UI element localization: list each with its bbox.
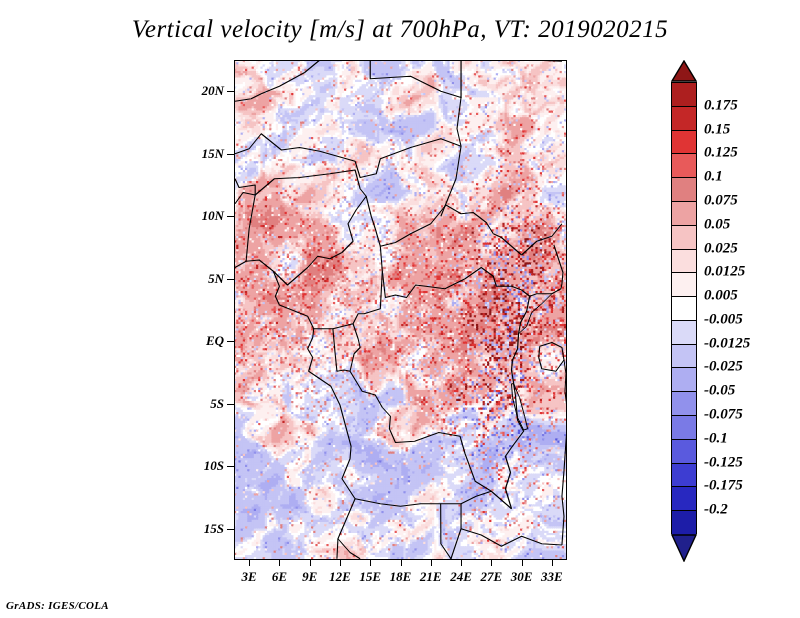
colorbar-band <box>672 368 696 392</box>
colorbar: 0.1750.150.1250.10.0750.050.0250.01250.0… <box>671 60 697 562</box>
colorbar-band <box>672 250 696 274</box>
latitude-tick-label: 15N <box>202 146 224 162</box>
colorbar-cap-top-icon <box>671 60 697 82</box>
colorbar-tick-label: 0.025 <box>704 240 738 257</box>
colorbar-band <box>672 107 696 131</box>
colorbar-tick-label: 0.175 <box>704 97 738 114</box>
longitude-tick <box>249 560 250 566</box>
colorbar-tick-label: -0.175 <box>704 478 743 495</box>
latitude-tick <box>227 154 234 155</box>
map-plot-area[interactable]: 20N15N10N5NEQ5S10S15S 3E6E9E12E15E18E21E… <box>234 60 567 560</box>
longitude-tick <box>491 560 492 566</box>
colorbar-tick-label: -0.05 <box>704 383 735 400</box>
longitude-tick <box>310 560 311 566</box>
colorbar-band <box>672 83 696 107</box>
longitude-tick <box>279 560 280 566</box>
colorbar-band <box>672 154 696 178</box>
longitude-tick-label: 12E <box>329 569 351 585</box>
longitude-tick <box>431 560 432 566</box>
longitude-tick-label: 9E <box>302 569 317 585</box>
longitude-tick-label: 3E <box>242 569 257 585</box>
colorbar-tick-label: 0.05 <box>704 216 730 233</box>
colorbar-band <box>672 440 696 464</box>
colorbar-tick-label: -0.075 <box>704 407 743 424</box>
latitude-tick-label: 15S <box>204 521 224 537</box>
latitude-tick <box>227 466 234 467</box>
latitude-tick <box>227 529 234 530</box>
page-title: Vertical velocity [m/s] at 700hPa, VT: 2… <box>0 16 800 44</box>
colorbar-band <box>672 321 696 345</box>
colorbar-band <box>672 392 696 416</box>
longitude-tick <box>522 560 523 566</box>
latitude-tick <box>227 279 234 280</box>
latitude-tick-label: 5N <box>208 271 224 287</box>
colorbar-cap-bottom-icon <box>671 534 697 562</box>
longitude-tick <box>370 560 371 566</box>
latitude-tick <box>227 404 234 405</box>
longitude-tick-label: 30E <box>511 569 533 585</box>
colorbar-tick-label: -0.0125 <box>704 335 750 352</box>
longitude-tick <box>340 560 341 566</box>
colorbar-band <box>672 131 696 155</box>
colorbar-band <box>672 511 696 535</box>
longitude-tick-label: 6E <box>272 569 287 585</box>
colorbar-tick-label: 0.1 <box>704 169 723 186</box>
colorbar-band <box>672 345 696 369</box>
longitude-tick-label: 27E <box>480 569 502 585</box>
latitude-tick-label: EQ <box>206 333 224 349</box>
colorbar-band <box>672 487 696 511</box>
longitude-tick-label: 33E <box>541 569 563 585</box>
vertical-velocity-heatmap <box>234 60 567 560</box>
colorbar-tick-label: 0.075 <box>704 192 738 209</box>
latitude-tick <box>227 341 234 342</box>
colorbar-tick-label: 0.005 <box>704 288 738 305</box>
colorbar-band <box>672 416 696 440</box>
colorbar-tick-label: 0.0125 <box>704 264 745 281</box>
longitude-tick <box>552 560 553 566</box>
colorbar-tick-label: -0.1 <box>704 430 728 447</box>
colorbar-tick-label: 0.125 <box>704 145 738 162</box>
colorbar-band <box>672 464 696 488</box>
colorbar-band <box>672 202 696 226</box>
longitude-tick-label: 18E <box>390 569 412 585</box>
latitude-tick <box>227 91 234 92</box>
longitude-tick <box>461 560 462 566</box>
colorbar-bands <box>671 82 697 534</box>
colorbar-tick-label: -0.005 <box>704 311 743 328</box>
colorbar-tick-label: -0.125 <box>704 454 743 471</box>
colorbar-band <box>672 226 696 250</box>
colorbar-tick-label: 0.15 <box>704 121 730 138</box>
longitude-tick-label: 15E <box>359 569 381 585</box>
latitude-tick-label: 20N <box>202 83 224 99</box>
colorbar-band <box>672 273 696 297</box>
latitude-tick <box>227 216 234 217</box>
longitude-tick-label: 24E <box>450 569 472 585</box>
colorbar-tick-label: -0.2 <box>704 502 728 519</box>
colorbar-band <box>672 297 696 321</box>
latitude-tick-label: 5S <box>210 396 224 412</box>
latitude-tick-label: 10N <box>202 208 224 224</box>
longitude-tick-label: 21E <box>420 569 442 585</box>
grads-credit: GrADS: IGES/COLA <box>6 600 109 612</box>
colorbar-band <box>672 178 696 202</box>
colorbar-tick-label: -0.025 <box>704 359 743 376</box>
longitude-tick <box>401 560 402 566</box>
latitude-tick-label: 10S <box>204 458 224 474</box>
